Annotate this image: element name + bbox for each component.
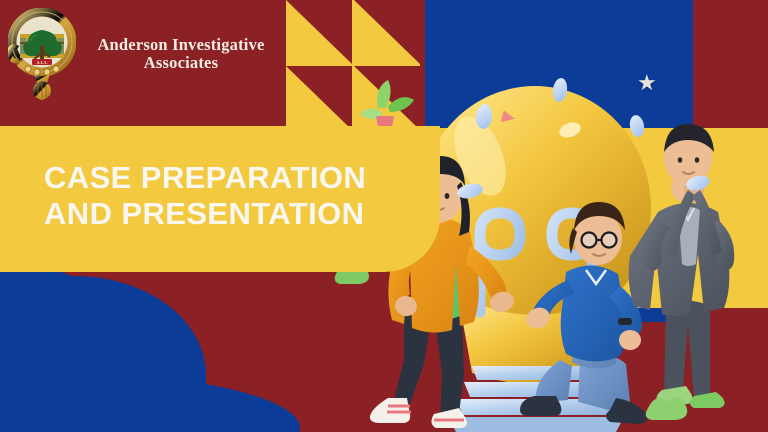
brand-logo: A.I.A. Anderson Investigative Associates: [8, 6, 278, 102]
star-icon: ★: [637, 72, 657, 94]
page-title: CASE PREPARATION AND PRESENTATION: [44, 160, 444, 232]
svg-text:A.I.A.: A.I.A.: [36, 60, 47, 65]
triangle-tile: [354, 0, 420, 64]
triangle-tile: [286, 0, 352, 64]
person-standing-icon: [629, 124, 735, 408]
clan-crest-badge-icon: A.I.A.: [8, 8, 76, 100]
title-slide: ★ ✦ CASE PREPARATION AND PRESENTATION: [0, 0, 768, 432]
brand-name: Anderson Investigative Associates: [86, 36, 276, 73]
